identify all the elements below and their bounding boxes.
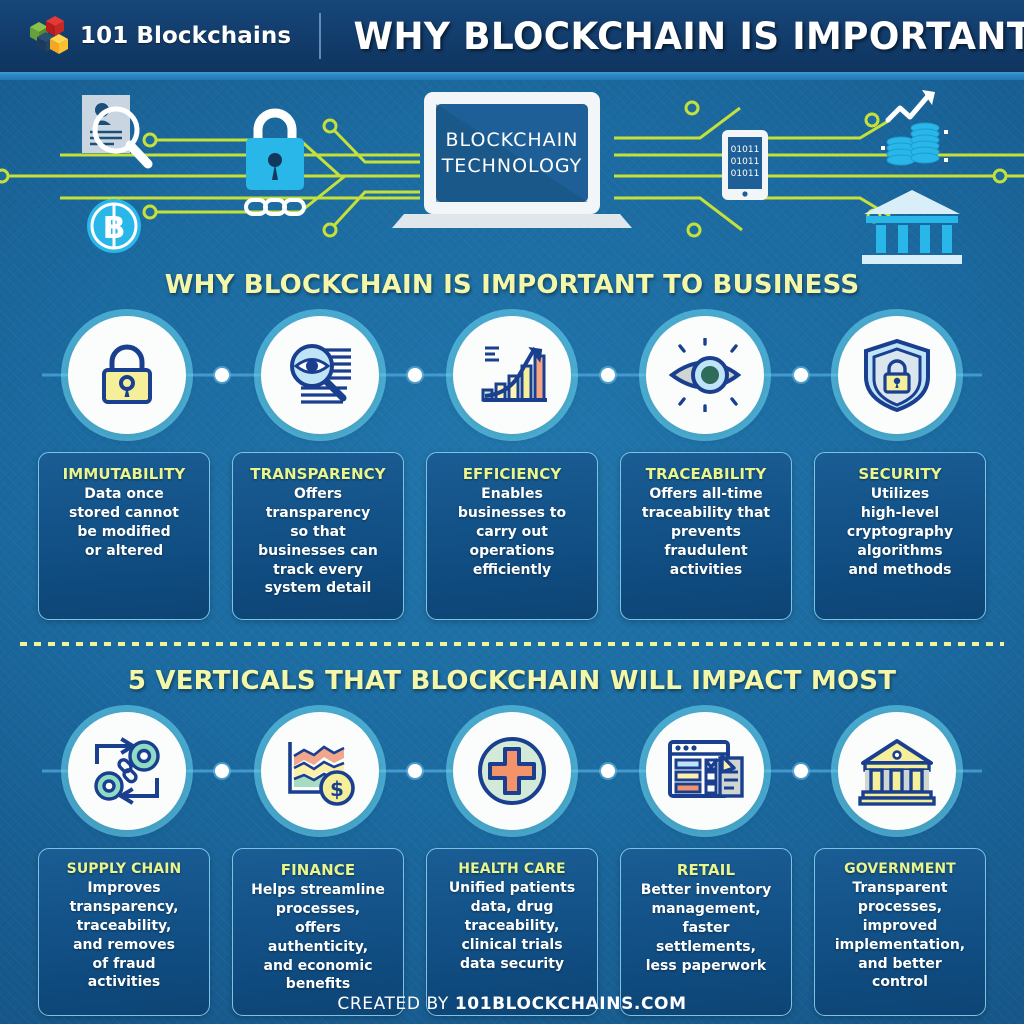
section2-icon-cell[interactable]	[812, 712, 982, 830]
card-body: Data oncestored cannotbe modifiedor alte…	[46, 485, 202, 561]
growth-bar-chart-icon	[453, 316, 571, 434]
card-body: Helps streamlineprocesses,offersauthenti…	[240, 881, 396, 994]
card-body: Improvestransparency,traceability,and re…	[46, 879, 202, 992]
card-transparency[interactable]: TRANSPARENCY Offerstransparencyso thatbu…	[232, 452, 404, 620]
card-title: FINANCE	[240, 861, 396, 879]
card-body: Enablesbusinesses tocarry outoperationse…	[434, 485, 590, 579]
svg-text:$: $	[330, 777, 344, 801]
card-title: TRANSPARENCY	[240, 465, 396, 483]
card-efficiency[interactable]: EFFICIENCY Enablesbusinesses tocarry out…	[426, 452, 598, 620]
card-security[interactable]: SECURITY Utilizeshigh-levelcryptographya…	[814, 452, 986, 620]
shield-lock-icon	[838, 316, 956, 434]
section2-card-row: SUPPLY CHAIN Improvestransparency,tracea…	[0, 848, 1024, 1016]
coins-growth-arrow-icon	[881, 90, 948, 165]
card-body: Transparentprocesses,improvedimplementat…	[822, 879, 978, 992]
card-title: IMMUTABILITY	[46, 465, 202, 483]
card-title: TRACEABILITY	[628, 465, 784, 483]
bank-building-icon	[862, 190, 962, 264]
medical-cross-icon	[453, 712, 571, 830]
hero-graphic: B BLOCKCHAIN TECHNOL	[0, 80, 1024, 266]
section1-icon-cell[interactable]	[620, 316, 790, 434]
section2-title: 5 VERTICALS THAT BLOCKCHAIN WILL IMPACT …	[0, 666, 1024, 696]
svg-text:01011: 01011	[731, 157, 760, 167]
card-body: Offers all-timetraceability thatprevents…	[628, 485, 784, 579]
card-title: SUPPLY CHAIN	[46, 861, 202, 877]
section-divider	[20, 642, 1004, 646]
card-body: Utilizeshigh-levelcryptographyalgorithms…	[822, 485, 978, 579]
section2-icon-cell[interactable]	[620, 712, 790, 830]
card-body: Better inventorymanagement,fastersettlem…	[628, 881, 784, 975]
padlock-icon	[246, 113, 304, 190]
brand[interactable]: 101 Blockchains	[26, 15, 291, 57]
section1-icon-row	[0, 316, 1024, 434]
page-title: WHY BLOCKCHAIN IS IMPORTANT	[354, 15, 1024, 58]
page-header: 101 Blockchains WHY BLOCKCHAIN IS IMPORT…	[0, 0, 1024, 72]
footer-site[interactable]: 101BLOCKCHAINS.COM	[455, 994, 687, 1014]
footer-prefix: CREATED BY	[337, 994, 454, 1014]
connector-node	[408, 764, 422, 778]
card-finance[interactable]: FINANCE Helps streamlineprocesses,offers…	[232, 848, 404, 1016]
laptop-icon: BLOCKCHAIN TECHNOLOGY	[392, 92, 632, 228]
brand-name: 101 Blockchains	[80, 23, 291, 49]
laptop-label-line2: TECHNOLOGY	[441, 155, 583, 177]
card-health-care[interactable]: HEALTH CARE Unified patientsdata, drugtr…	[426, 848, 598, 1016]
section2-icon-row: $	[0, 712, 1024, 830]
section1-icon-cell[interactable]	[235, 316, 405, 434]
section1-icon-cell[interactable]	[812, 316, 982, 434]
infographic-page: 101 Blockchains WHY BLOCKCHAIN IS IMPORT…	[0, 0, 1024, 1024]
section1-card-row: IMMUTABILITY Data oncestored cannotbe mo…	[0, 452, 1024, 620]
retail-checklist-window-icon	[646, 712, 764, 830]
header-divider	[319, 13, 321, 59]
svg-text:01011: 01011	[731, 145, 760, 155]
card-immutability[interactable]: IMMUTABILITY Data oncestored cannotbe mo…	[38, 452, 210, 620]
bitcoin-coin-icon: B	[87, 199, 141, 253]
connector-node	[215, 368, 229, 382]
card-title: EFFICIENCY	[434, 465, 590, 483]
connector-node	[408, 368, 422, 382]
section1-icon-cell[interactable]	[42, 316, 212, 434]
connector-node	[794, 368, 808, 382]
hero-illustration: B BLOCKCHAIN TECHNOL	[0, 80, 1024, 266]
header-accent-bar	[0, 72, 1024, 80]
card-body: Unified patientsdata, drugtraceability,c…	[434, 879, 590, 973]
card-retail[interactable]: RETAIL Better inventorymanagement,faster…	[620, 848, 792, 1016]
laptop-label-line1: BLOCKCHAIN	[446, 129, 579, 151]
card-traceability[interactable]: TRACEABILITY Offers all-timetraceability…	[620, 452, 792, 620]
footer-credit: CREATED BY 101BLOCKCHAINS.COM	[0, 994, 1024, 1014]
card-title: HEALTH CARE	[434, 861, 590, 877]
connector-node	[215, 764, 229, 778]
eye-visibility-icon	[646, 316, 764, 434]
section2-icon-cell[interactable]	[42, 712, 212, 830]
card-body: Offerstransparencyso thatbusinesses cant…	[240, 485, 396, 598]
padlock-icon	[68, 316, 186, 434]
section1-title: WHY BLOCKCHAIN IS IMPORTANT TO BUSINESS	[0, 270, 1024, 300]
svg-text:01011: 01011	[731, 169, 760, 179]
section2-icon-cell[interactable]	[427, 712, 597, 830]
magnifier-eye-document-icon	[261, 316, 379, 434]
section1-icon-cell[interactable]	[427, 316, 597, 434]
connector-node	[794, 764, 808, 778]
cubes-logo-icon	[26, 15, 70, 57]
card-supply-chain[interactable]: SUPPLY CHAIN Improvestransparency,tracea…	[38, 848, 210, 1016]
connector-node	[601, 764, 615, 778]
gears-cycle-chain-icon	[68, 712, 186, 830]
card-title: SECURITY	[822, 465, 978, 483]
card-title: GOVERNMENT	[822, 861, 978, 877]
connector-node	[601, 368, 615, 382]
card-title: RETAIL	[628, 861, 784, 879]
finance-chart-dollar-icon: $	[261, 712, 379, 830]
tablet-binary-icon: 01011 01011 01011	[722, 130, 768, 200]
section2-icon-cell[interactable]: $	[235, 712, 405, 830]
card-government[interactable]: GOVERNMENT Transparentprocesses,improved…	[814, 848, 986, 1016]
government-building-icon	[838, 712, 956, 830]
